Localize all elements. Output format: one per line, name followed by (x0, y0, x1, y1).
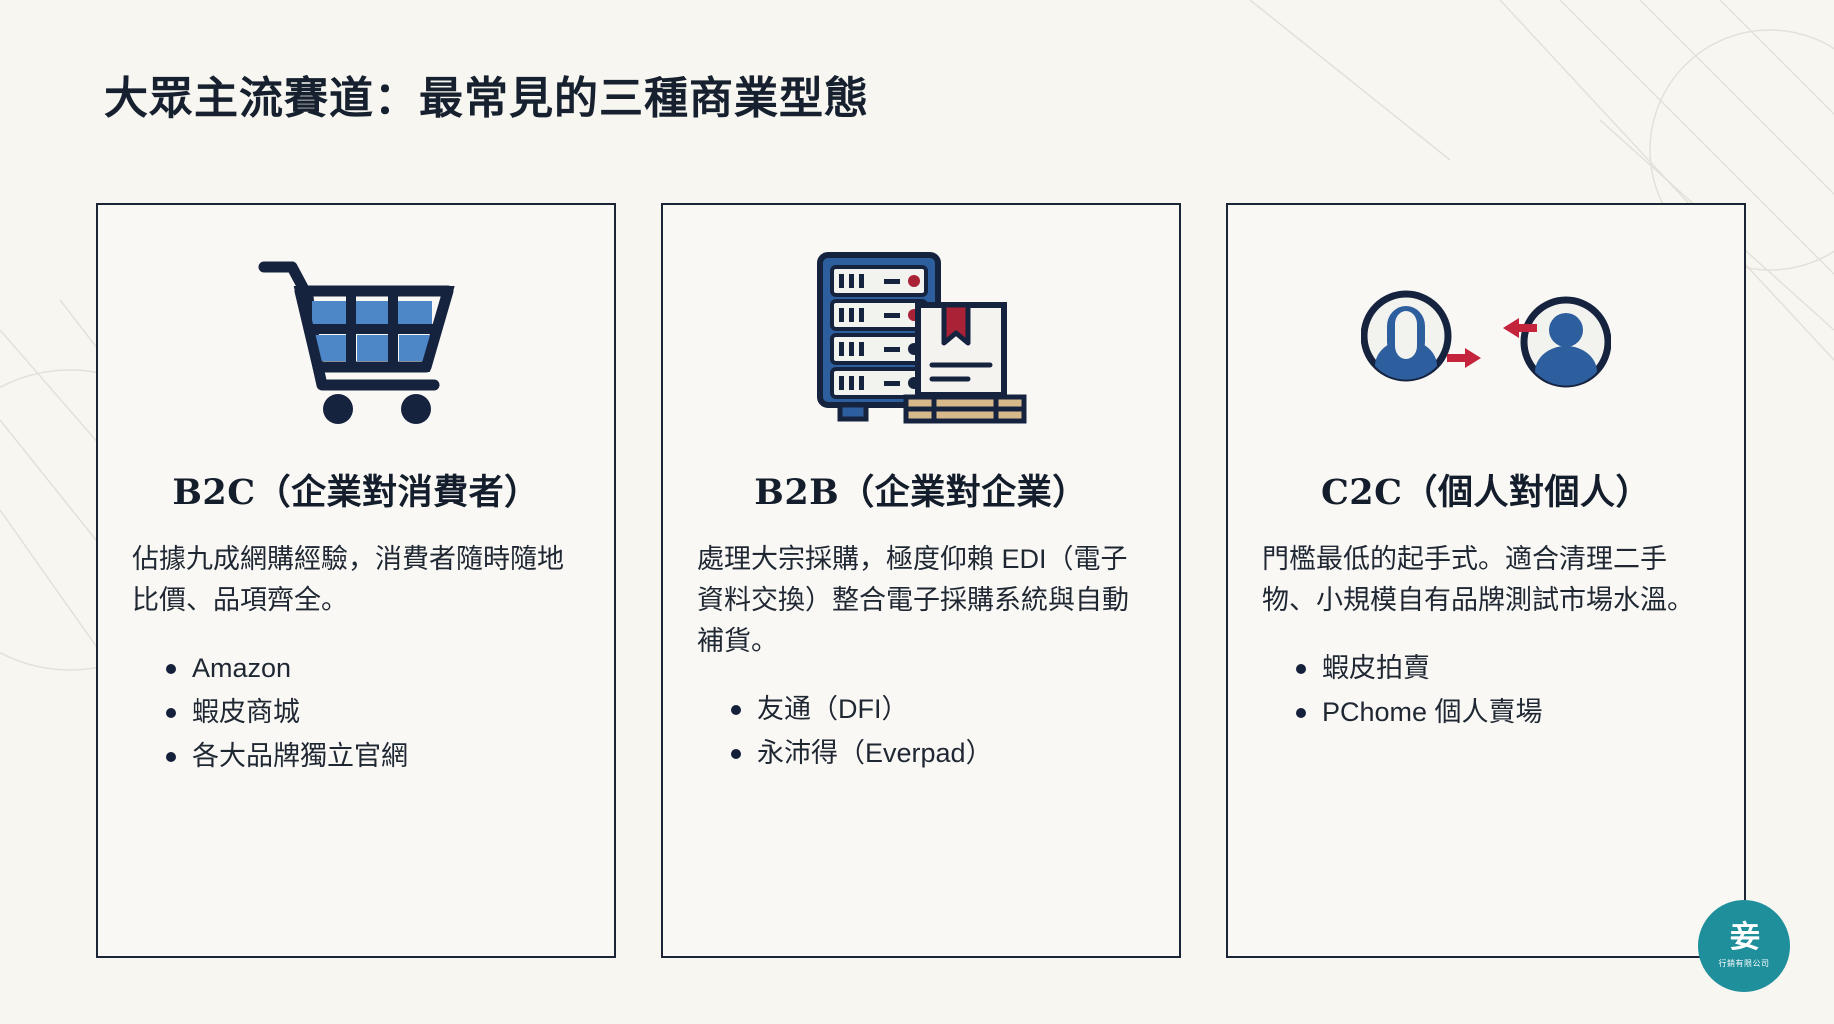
card-b2b-heading: B2B（企業對企業） (754, 473, 1088, 513)
list-item: Amazon (166, 647, 580, 691)
list-item: 各大品牌獨立官網 (166, 735, 580, 779)
card-b2b-icon-box (697, 205, 1145, 473)
shopping-cart-icon (256, 249, 456, 429)
page-title: 大眾主流賽道：最常見的三種商業型態 (104, 62, 869, 126)
card-c2c-heading: C2C（個人對個人） (1321, 473, 1651, 513)
logo-subtitle: 行銷有限公司 (1719, 958, 1770, 969)
card-b2b: B2B（企業對企業） 處理大宗採購，極度仰賴 EDI（電子資料交換）整合電子採購… (661, 203, 1181, 958)
card-c2c: C2C（個人對個人） 門檻最低的起手式。適合清理二手物、小規模自有品牌測試市場水… (1226, 203, 1746, 958)
person-to-person-exchange-icon (1361, 274, 1611, 404)
card-c2c-description: 門檻最低的起手式。適合清理二手物、小規模自有品牌測試市場水溫。 (1262, 539, 1710, 621)
list-item: 友通（DFI） (731, 688, 1145, 732)
card-b2b-description: 處理大宗採購，極度仰賴 EDI（電子資料交換）整合電子採購系統與自動補貨。 (697, 539, 1145, 662)
logo-mark: 妾 (1730, 923, 1758, 953)
server-rack-and-package-icon (806, 247, 1036, 432)
card-b2c-description: 佔據九成網購經驗，消費者隨時隨地比價、品項齊全。 (132, 539, 580, 621)
card-b2b-list: 友通（DFI） 永沛得（Everpad） (697, 688, 1145, 775)
list-item: PChome 個人賣場 (1296, 691, 1710, 735)
list-item: 蝦皮商城 (166, 691, 580, 735)
card-b2c-heading: B2C（企業對消費者） (172, 473, 539, 513)
card-b2c-icon-box (132, 205, 580, 473)
card-b2c-list: Amazon 蝦皮商城 各大品牌獨立官網 (132, 647, 580, 778)
card-c2c-list: 蝦皮拍賣 PChome 個人賣場 (1262, 647, 1710, 734)
list-item: 蝦皮拍賣 (1296, 647, 1710, 691)
card-row: B2C（企業對消費者） 佔據九成網購經驗，消費者隨時隨地比價、品項齊全。 Ama… (96, 203, 1746, 958)
slide-canvas: 大眾主流賽道：最常見的三種商業型態 (0, 0, 1834, 1024)
card-b2c: B2C（企業對消費者） 佔據九成網購經驗，消費者隨時隨地比價、品項齊全。 Ama… (96, 203, 616, 958)
list-item: 永沛得（Everpad） (731, 732, 1145, 776)
company-logo-badge: 妾 行銷有限公司 (1698, 900, 1790, 992)
card-c2c-icon-box (1262, 205, 1710, 473)
